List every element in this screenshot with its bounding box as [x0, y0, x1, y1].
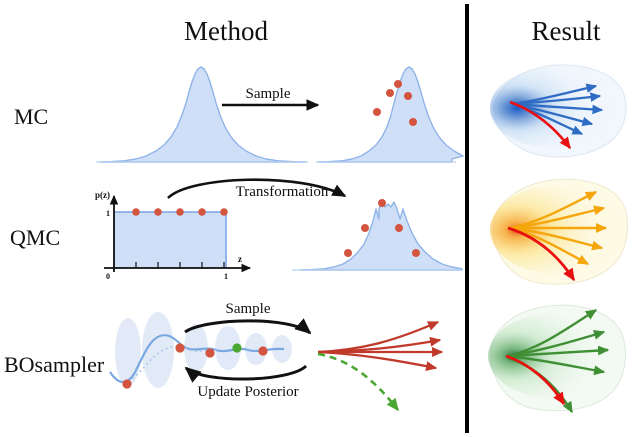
row-bosampler: BOsampler Sample Update Posterior [4, 301, 442, 410]
qmc-sample-point [412, 249, 420, 257]
qmc-uniform-point [154, 208, 162, 216]
qmc-transformation-label: Transformation [236, 184, 329, 200]
mc-sample-point [373, 108, 381, 116]
mc-source-distribution [96, 67, 308, 162]
qmc-y-tick-top: 1 [106, 209, 110, 218]
mc-sample-point [394, 80, 402, 88]
mc-sample-arrow-label: Sample [246, 86, 291, 102]
method-result-figure: Method Result MC Sample [0, 0, 640, 437]
bo-update-posterior-label: Update Posterior [197, 384, 298, 400]
qmc-y-axis-label: p(z) [95, 190, 110, 200]
qmc-sample-point [395, 224, 403, 232]
bo-observed-point [205, 348, 214, 357]
qmc-sample-point [378, 199, 386, 207]
bo-observed-point [122, 379, 131, 388]
qmc-uniform-point [220, 208, 228, 216]
mc-sample-point [404, 92, 412, 100]
mc-sample-point [386, 89, 394, 97]
qmc-x-tick-end: 1 [224, 272, 228, 281]
qmc-x-axis-label: z [238, 254, 242, 264]
row-label-bosampler: BOsampler [4, 352, 105, 377]
mc-result-heatmap [490, 68, 614, 148]
qmc-uniform-point [198, 208, 206, 216]
qmc-transformed-distribution [292, 199, 462, 270]
row-qmc: QMC p(z) 1 0 z 1 [10, 180, 462, 281]
row-mc: MC Sample [14, 67, 463, 162]
result-panel-bosampler [488, 305, 625, 412]
row-label-qmc: QMC [10, 225, 60, 250]
bo-trajectory-fan [318, 322, 442, 368]
result-panel-qmc [490, 179, 628, 284]
qmc-uniform-box [114, 212, 226, 268]
qmc-sample-point [361, 224, 369, 232]
qmc-uniform-point [176, 208, 184, 216]
qmc-uniform-chart: p(z) 1 0 z 1 [95, 190, 250, 281]
bo-observed-point [258, 346, 267, 355]
qmc-transformation-arrow: Transformation [168, 180, 345, 200]
mc-sampled-distribution [316, 67, 463, 162]
qmc-uniform-point [132, 208, 140, 216]
result-column-title: Result [531, 16, 601, 46]
mc-sample-arrow: Sample [222, 86, 318, 105]
qmc-y-tick-bottom: 0 [106, 272, 110, 281]
row-label-mc: MC [14, 104, 48, 129]
bo-ground-truth-trajectory [318, 354, 398, 410]
result-panel-mc [490, 65, 626, 157]
method-column-title: Method [184, 16, 268, 46]
bo-update-posterior-arrow: Update Posterior [186, 366, 306, 400]
bo-sample-arrow: Sample [185, 301, 310, 333]
qmc-sample-point [344, 249, 352, 257]
mc-sample-point [409, 118, 417, 126]
bo-proposed-point [232, 343, 241, 352]
bo-observed-point [175, 343, 184, 352]
bo-sample-arrow-label: Sample [226, 301, 271, 317]
